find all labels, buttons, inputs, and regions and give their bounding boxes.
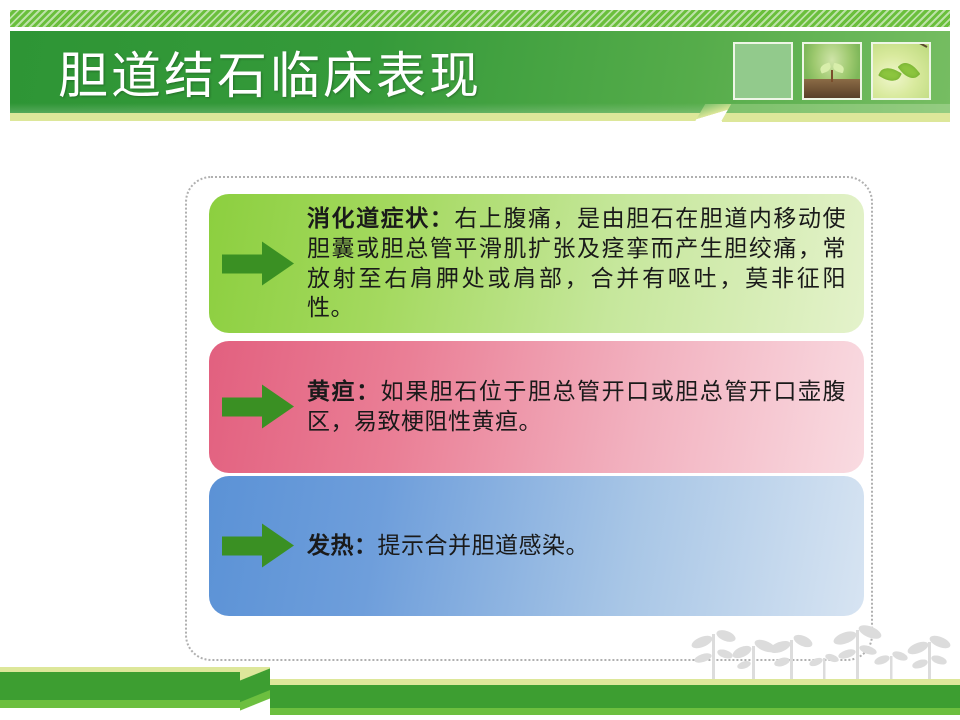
- header-striped-band: [10, 10, 950, 27]
- right-arrow-icon: [222, 524, 294, 569]
- right-arrow-icon: [222, 385, 294, 430]
- green-leaves-photo-thumbnail: [871, 42, 931, 100]
- symptom-text-fever: 发热：提示合并胆道感染。: [307, 531, 589, 561]
- symptom-band-digestive: 消化道症状：右上腹痛，是由胆石在胆道内移动使胆囊或胆总管平滑肌扩张及痉挛而产生胆…: [209, 194, 864, 333]
- footer-lime-band-right: [262, 708, 960, 715]
- leaf-right-shape: [832, 63, 845, 73]
- footer-green-band-right: [262, 685, 960, 708]
- page-title: 胆道结石临床表现: [58, 36, 698, 108]
- header-thumbnail-strip: [733, 42, 931, 100]
- symptom-body-fever: 提示合并胆道感染。: [378, 533, 590, 558]
- symptom-text-digestive: 消化道症状：右上腹痛，是由胆石在胆道内移动使胆囊或胆总管平滑肌扩张及痉挛而产生胆…: [307, 204, 846, 324]
- symptom-separator-jaundice: ：: [356, 379, 381, 404]
- right-arrow-icon: [222, 241, 294, 286]
- footer-lime-band-left: [0, 700, 248, 708]
- symptom-heading-digestive: 消化道症状: [307, 206, 430, 231]
- symptom-heading-jaundice: 黄疸: [307, 379, 356, 404]
- symptom-band-fever: 发热：提示合并胆道感染。: [209, 476, 864, 616]
- header-underline-left: [10, 113, 722, 121]
- seedling-photo-thumbnail: [802, 42, 862, 100]
- leaf-shape-2: [898, 59, 921, 83]
- symptom-text-jaundice: 黄疸：如果胆石位于胆总管开口或胆总管开口壶腹区，易致梗阻性黄疸。: [307, 377, 846, 437]
- footer-green-band-left: [0, 672, 248, 700]
- symptom-separator-fever: ：: [354, 533, 378, 558]
- symptom-heading-fever: 发热: [307, 533, 354, 558]
- leaf-left-shape: [819, 62, 832, 73]
- stem-shape: [831, 70, 833, 82]
- symptom-separator-digestive: ：: [430, 206, 455, 231]
- symptom-band-jaundice: 黄疸：如果胆石位于胆总管开口或胆总管开口壶腹区，易致梗阻性黄疸。: [209, 341, 864, 473]
- slide-canvas: 胆道结石临床表现 消化道症状：右上腹痛，是由胆石在胆道内移动使胆囊或胆总管平滑肌…: [0, 0, 960, 720]
- symptom-body-jaundice: 如果胆石位于胆总管开口或胆总管开口壶腹区，易致梗阻性黄疸。: [307, 379, 846, 434]
- header-underline-right: [722, 113, 950, 122]
- branch-shape: [897, 42, 928, 48]
- footer-notch-shape: [240, 667, 270, 715]
- blank-green-thumbnail: [733, 42, 793, 100]
- sprout-silhouette-decor: [690, 612, 960, 684]
- header-underline-mid: [706, 104, 950, 113]
- symptom-band-list: 消化道症状：右上腹痛，是由胆石在胆道内移动使胆囊或胆总管平滑肌扩张及痉挛而产生胆…: [209, 194, 864, 616]
